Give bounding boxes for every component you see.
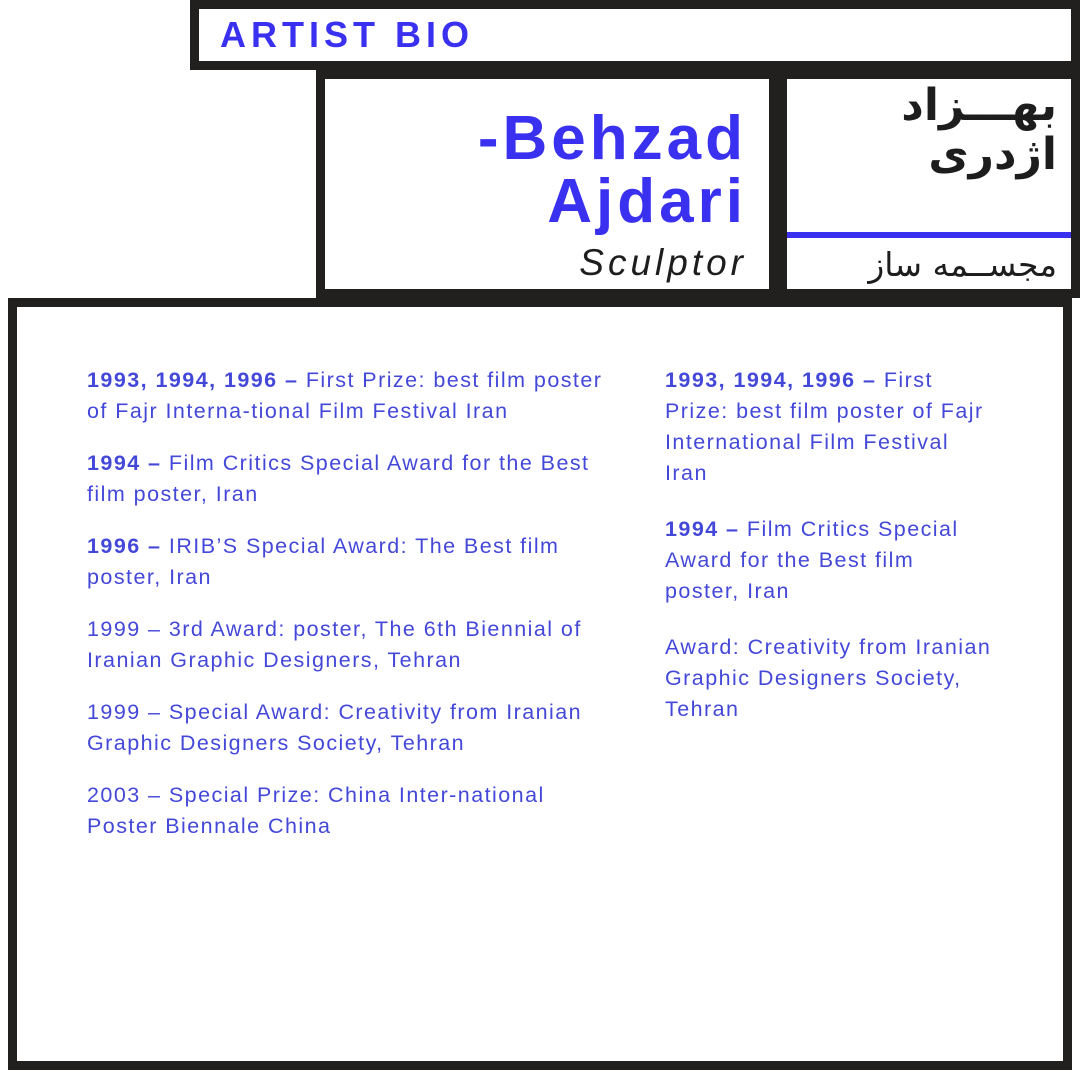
award-entry: 1993, 1994, 1996 – First Prize: best fil… bbox=[665, 365, 995, 489]
artist-name-line2: Ajdari bbox=[325, 170, 747, 233]
artist-name-persian-line2: اژدری bbox=[787, 130, 1057, 179]
artist-bio-poster: ARTIST BIO -Behzad Ajdari Sculptor بهـــ… bbox=[0, 0, 1080, 1080]
artist-name-persian: بهـــزاد اژدری bbox=[787, 81, 1057, 180]
award-entry: 1999 – Special Award: Creativity from Ir… bbox=[87, 697, 607, 758]
award-year: 1999 – bbox=[87, 700, 169, 724]
artist-role-persian: مجســمه ساز bbox=[787, 247, 1057, 283]
award-year: 1993, 1994, 1996 – bbox=[87, 368, 306, 392]
artist-name-persian-line1: بهـــزاد bbox=[901, 80, 1057, 131]
artist-name-latin: -Behzad Ajdari bbox=[325, 107, 747, 233]
awards-column-left: 1993, 1994, 1996 – First Prize: best fil… bbox=[87, 365, 607, 863]
award-year: 1996 – bbox=[87, 534, 169, 558]
persian-divider-rule bbox=[787, 232, 1071, 238]
award-text: Award: Creativity from Iranian Graphic D… bbox=[665, 635, 991, 721]
artist-bio-label: ARTIST BIO bbox=[199, 17, 474, 53]
award-year: 1993, 1994, 1996 – bbox=[665, 368, 884, 392]
award-entry: Award: Creativity from Iranian Graphic D… bbox=[665, 632, 995, 725]
artist-role-latin: Sculptor bbox=[579, 244, 747, 281]
award-year: 1999 – bbox=[87, 617, 169, 641]
award-year: 1994 – bbox=[665, 517, 747, 541]
award-entry: 1996 – IRIB’S Special Award: The Best fi… bbox=[87, 531, 607, 592]
artist-name-panel: -Behzad Ajdari Sculptor bbox=[316, 70, 778, 298]
awards-body-panel: 1993, 1994, 1996 – First Prize: best fil… bbox=[8, 298, 1072, 1070]
award-entry: 1994 – Film Critics Special Award for th… bbox=[665, 514, 995, 607]
artist-bio-tab: ARTIST BIO bbox=[190, 0, 1080, 70]
artist-name-line1: -Behzad bbox=[478, 104, 747, 173]
awards-column-right: 1993, 1994, 1996 – First Prize: best fil… bbox=[665, 365, 995, 750]
artist-name-panel-persian: بهـــزاد اژدری مجســمه ساز bbox=[778, 70, 1080, 298]
award-entry: 1993, 1994, 1996 – First Prize: best fil… bbox=[87, 365, 607, 426]
award-entry: 2003 – Special Prize: China Inter-nation… bbox=[87, 780, 607, 841]
award-year: 2003 – bbox=[87, 783, 169, 807]
award-year: 1994 – bbox=[87, 451, 169, 475]
award-entry: 1994 – Film Critics Special Award for th… bbox=[87, 448, 607, 509]
award-entry: 1999 – 3rd Award: poster, The 6th Bienni… bbox=[87, 614, 607, 675]
